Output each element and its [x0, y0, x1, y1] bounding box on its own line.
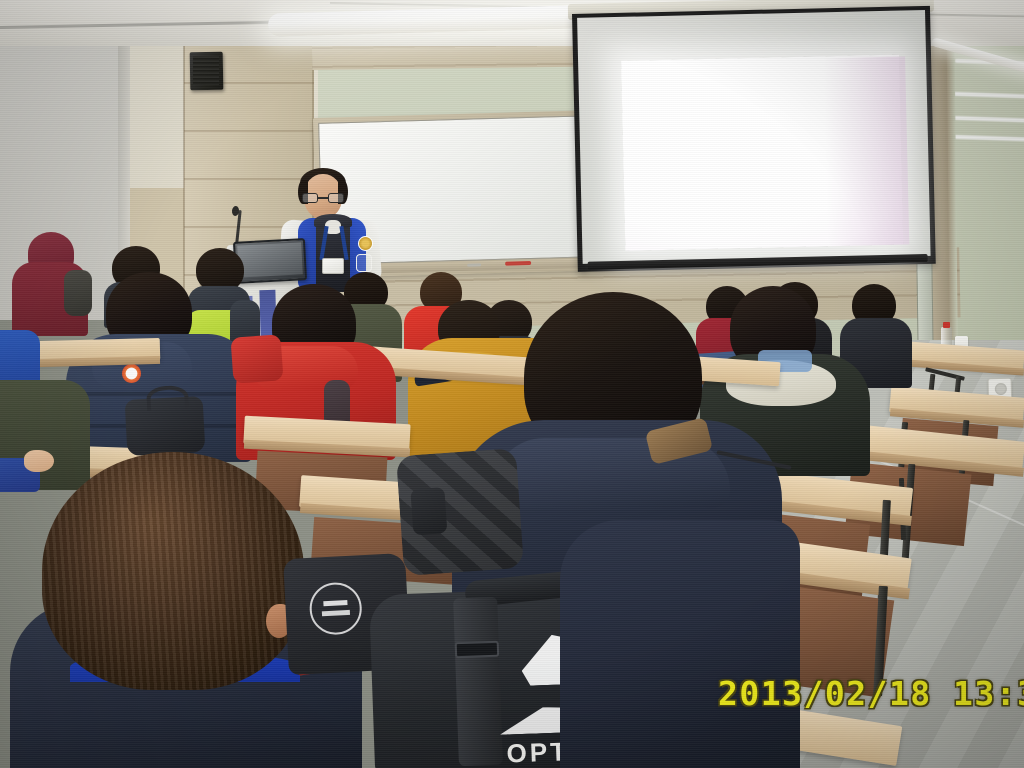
- speaker-grille-icon: [193, 56, 219, 85]
- jacket-emblem-icon: [358, 236, 373, 251]
- body-navy: [560, 520, 800, 768]
- glasses-bridge: [318, 197, 328, 199]
- shoulder-bag: [125, 396, 206, 456]
- backpack-logo-icon: [308, 581, 363, 636]
- outlet-socket-icon: [995, 383, 1007, 395]
- projected-image-tint: [823, 56, 909, 246]
- lens-right: [328, 193, 344, 203]
- head-hair-closeup: [42, 452, 304, 690]
- red-bag: [230, 334, 283, 383]
- lens-left: [302, 193, 318, 203]
- wood-panel-seam: [183, 36, 185, 300]
- projection-screen: [572, 6, 936, 286]
- jacket-logo-patch-icon: [122, 364, 141, 383]
- eyeglasses-icon: [302, 193, 344, 203]
- jacket-number-patch: [356, 254, 372, 272]
- strap-buckle: [455, 641, 500, 659]
- bottle-cap: [943, 322, 950, 328]
- bag-handle: [146, 385, 189, 411]
- plaid-backpack: [396, 448, 524, 576]
- duffel-shoulder-strap: [453, 597, 503, 766]
- eraser-icon: [467, 263, 481, 266]
- person-foreground-right-torso: [560, 520, 800, 768]
- camera-timestamp: 2013/02/18 13:37: [718, 674, 1024, 713]
- photograph: OPT 2013/02/18 13:37: [0, 0, 1024, 768]
- red-marker-icon: [505, 261, 531, 266]
- backpack-pocket: [410, 487, 447, 535]
